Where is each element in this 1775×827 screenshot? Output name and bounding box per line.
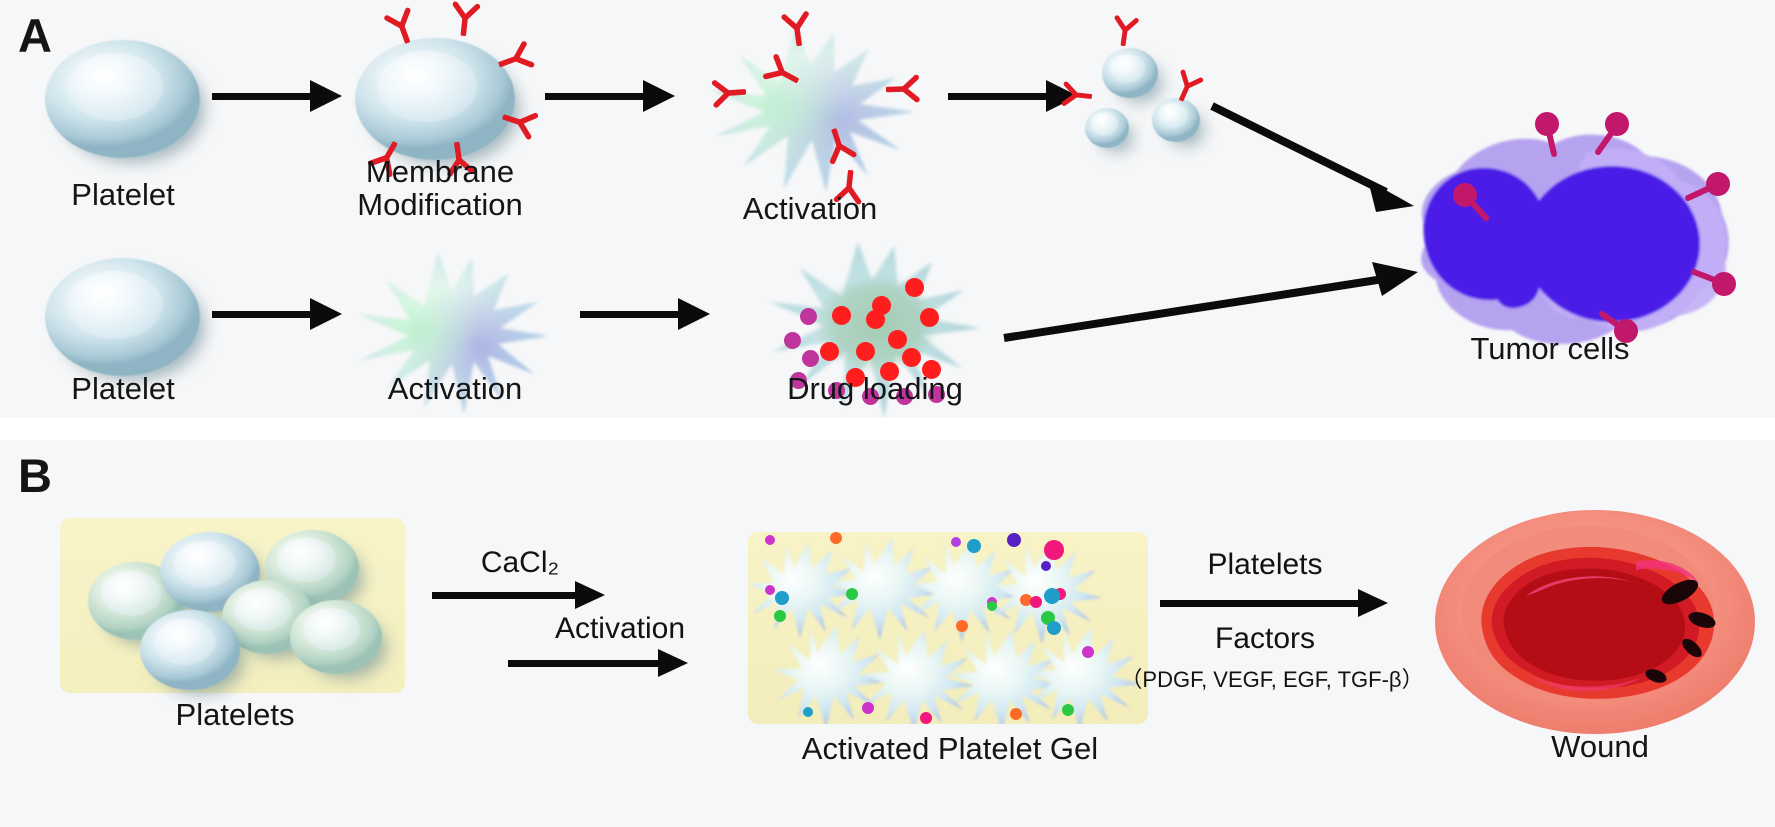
platelet-resting-top xyxy=(45,40,200,158)
platelet-in-box xyxy=(290,600,382,674)
arrow-top-1 xyxy=(212,78,342,114)
antibody-icon xyxy=(1061,79,1094,112)
drug-dot-magenta xyxy=(802,350,819,367)
antibody-icon xyxy=(778,10,816,48)
caption-activation-top: Activation xyxy=(690,192,930,225)
vesicle xyxy=(1085,108,1129,148)
drug-dot-magenta xyxy=(800,308,817,325)
antibody-icon xyxy=(446,0,483,37)
panel-b: B Platelets CaCl₂ Activation xyxy=(0,440,1775,827)
antibody-icon xyxy=(711,75,747,111)
drug-dot-red xyxy=(820,342,839,361)
drug-dot-red xyxy=(905,278,924,297)
caption-activated-platelet-gel: Activated Platelet Gel xyxy=(700,732,1200,765)
arrow-activation-b xyxy=(508,652,708,684)
panel-b-letter: B xyxy=(18,448,52,503)
panel-a-letter: A xyxy=(18,8,52,63)
caption-membrane-modification: Membrane Modification xyxy=(330,155,550,222)
drug-dot-red xyxy=(902,348,921,367)
wound-illustration xyxy=(1430,500,1760,750)
drug-dot-magenta xyxy=(784,332,801,349)
platelet-in-box xyxy=(140,610,240,690)
arrow-top-2 xyxy=(545,78,675,114)
antibody-icon xyxy=(885,71,920,106)
arrow-bottom-2 xyxy=(580,296,710,332)
vesicle xyxy=(1102,48,1158,98)
antibody-icon xyxy=(1108,14,1142,48)
caption-platelet-bottom: Platelet xyxy=(28,372,218,405)
drug-dot-red xyxy=(832,306,851,325)
drug-dot-red xyxy=(856,342,875,361)
platelet-activated-top xyxy=(700,20,920,205)
label-cacl2: CaCl₂ xyxy=(440,546,600,580)
tumor-cells-illustration xyxy=(1340,110,1760,360)
drug-dot-red xyxy=(888,330,907,349)
caption-platelet-top: Platelet xyxy=(28,178,218,211)
caption-tumor-cells: Tumor cells xyxy=(1390,332,1710,365)
panel-divider xyxy=(0,418,1775,440)
figure-root: A Platelet Membrane Modific xyxy=(0,0,1775,827)
platelet-resting-bottom xyxy=(45,258,200,376)
label-activation-b: Activation xyxy=(510,612,730,646)
activated-platelet-gel-box xyxy=(748,532,1148,724)
arrow-bottom-1 xyxy=(212,296,342,332)
drug-dot-red xyxy=(920,308,939,327)
arrow-top-3 xyxy=(948,78,1078,114)
label-platelets-arrow: Platelets xyxy=(1150,548,1380,582)
caption-wound: Wound xyxy=(1480,730,1720,763)
caption-activation-bottom: Activation xyxy=(340,372,570,405)
caption-drug-loading: Drug loading xyxy=(740,372,1010,405)
arrow-platelets-factors xyxy=(1160,592,1390,624)
panel-a: A Platelet Membrane Modific xyxy=(0,0,1775,418)
label-factors-arrow: Factors xyxy=(1150,622,1380,656)
caption-platelets: Platelets xyxy=(110,698,360,731)
label-growth-factors: （PDGF, VEGF, EGF, TGF-β） xyxy=(1092,662,1452,694)
drug-dot-red xyxy=(866,310,885,329)
